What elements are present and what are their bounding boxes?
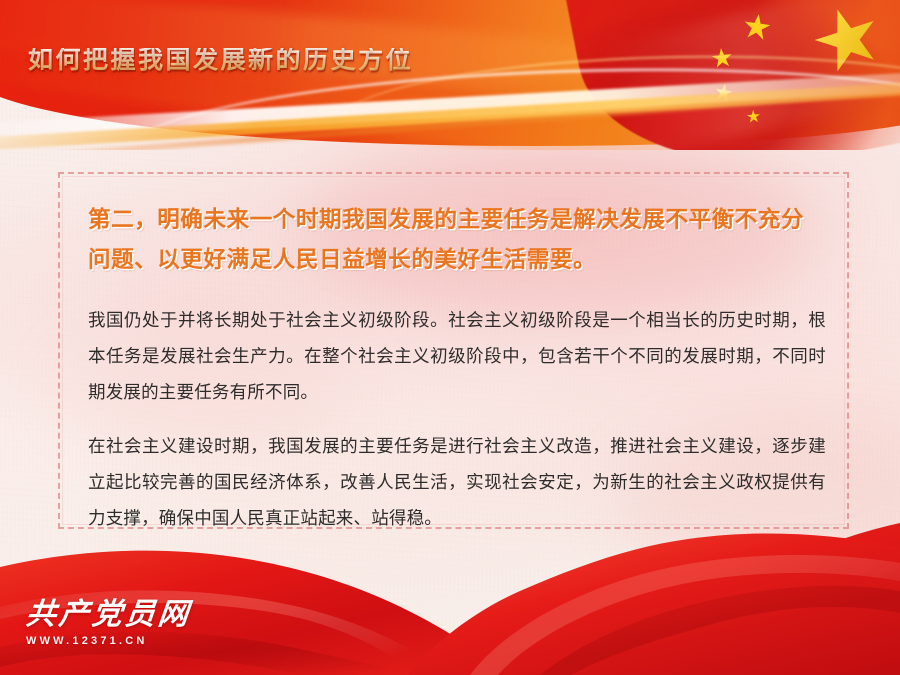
body-paragraph-1: 我国仍处于并将长期处于社会主义初级阶段。社会主义初级阶段是一个相当长的历史时期，…: [88, 302, 826, 410]
content-body: 第二，明确未来一个时期我国发展的主要任务是解决发展不平衡不充分问题、以更好满足人…: [88, 200, 826, 536]
site-logo-url: WWW.12371.CN: [26, 636, 191, 647]
footer-wave-decoration: [0, 495, 900, 675]
red-silk-wave-icon: [0, 495, 900, 675]
page-title: 如何把握我国发展新的历史方位: [28, 48, 413, 73]
site-logo[interactable]: 共产党员网 WWW.12371.CN: [26, 600, 191, 647]
site-logo-name: 共产党员网: [24, 600, 192, 630]
header-banner: 如何把握我国发展新的历史方位 如何把握我国发展新的历史方位: [0, 0, 900, 150]
section-heading: 第二，明确未来一个时期我国发展的主要任务是解决发展不平衡不充分问题、以更好满足人…: [88, 200, 826, 280]
slide-root: 如何把握我国发展新的历史方位 如何把握我国发展新的历史方位 第二，明确未来一个时…: [0, 0, 900, 675]
